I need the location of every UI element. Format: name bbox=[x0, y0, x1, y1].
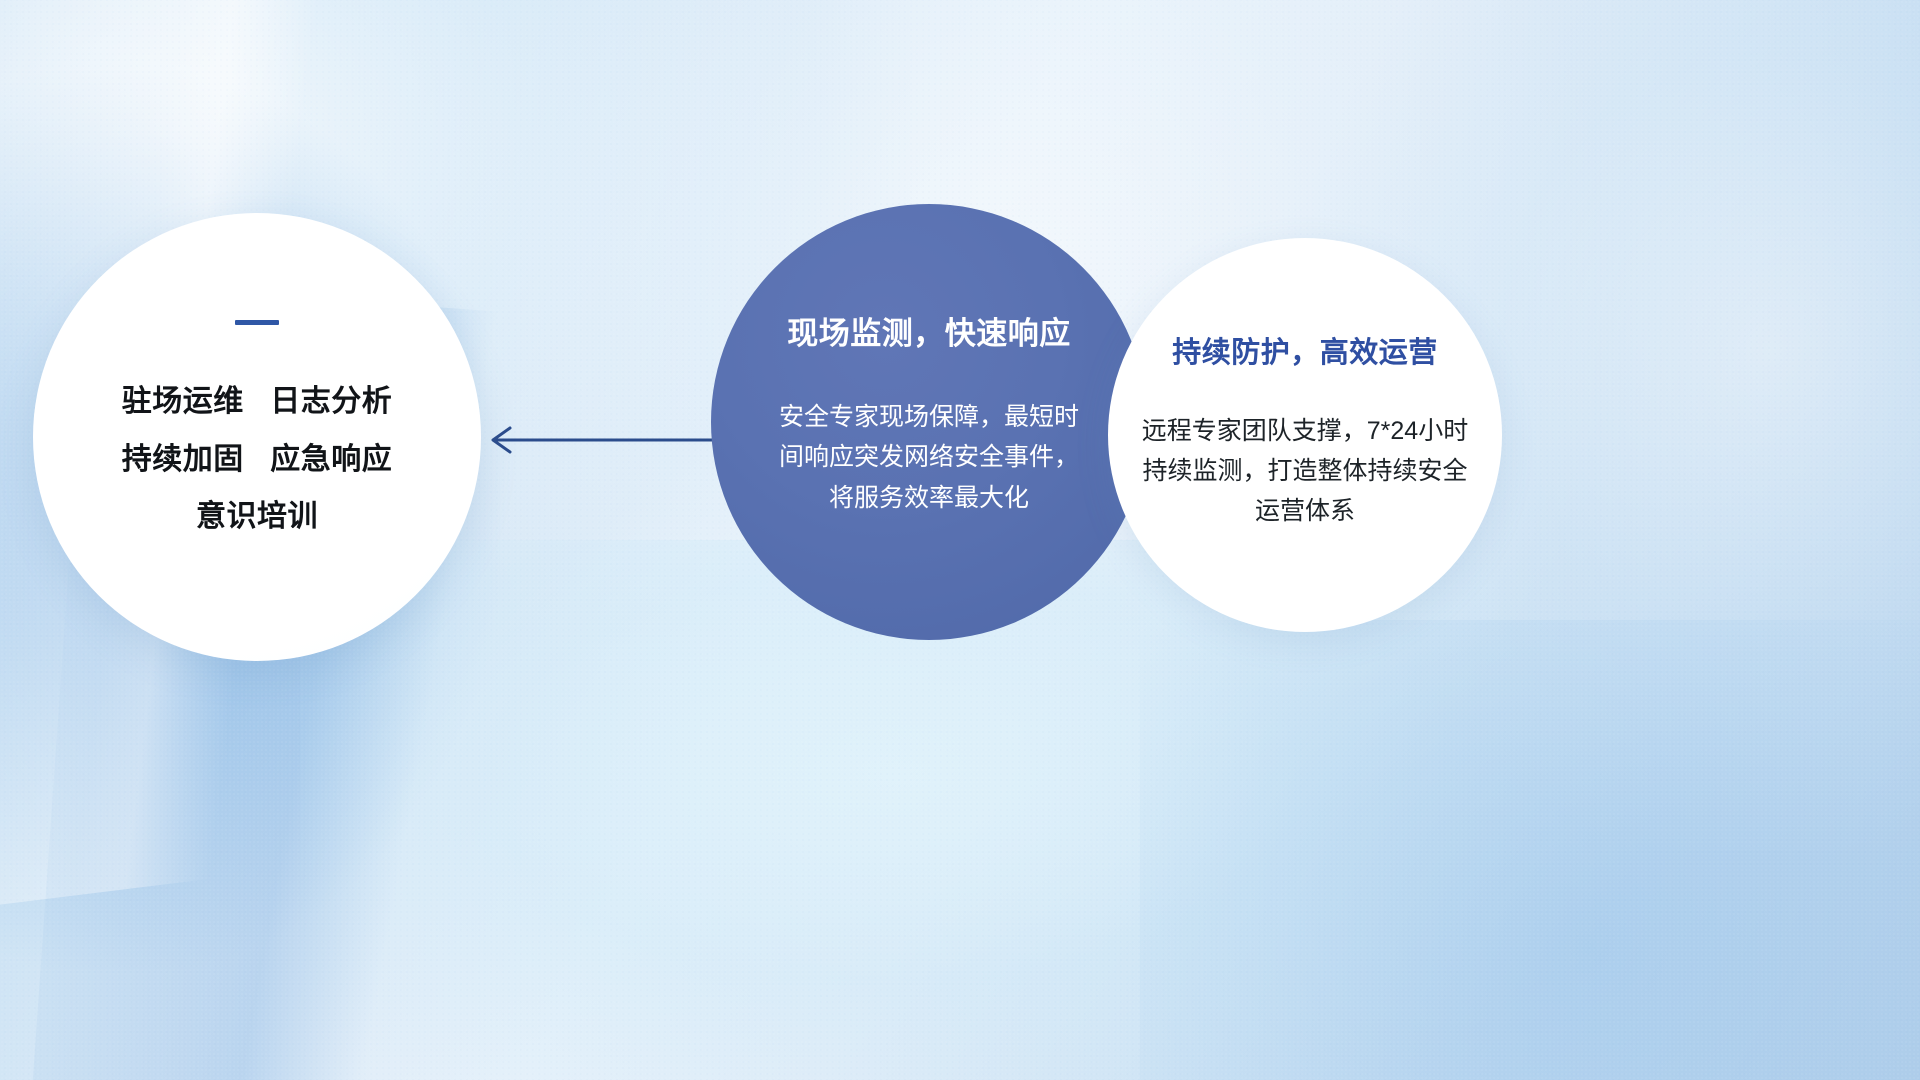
card-continuous-protection: 持续防护，高效运营 远程专家团队支撑，7*24小时持续监测，打造整体持续安全运营… bbox=[1108, 238, 1502, 632]
capability-keyword-row: 驻场运维 日志分析 bbox=[122, 373, 393, 431]
capability-keyword-row: 意识培训 bbox=[122, 488, 393, 546]
capability-circle: 驻场运维 日志分析 持续加固 应急响应 意识培训 bbox=[33, 213, 481, 661]
slide-canvas: 驻场运维 日志分析 持续加固 应急响应 意识培训 现场监测，快速响应 安全专家现… bbox=[0, 0, 1920, 1080]
horizontal-dash-icon bbox=[235, 320, 279, 325]
card-title: 持续防护，高效运营 bbox=[1172, 329, 1438, 371]
card-title: 现场监测，快速响应 bbox=[787, 308, 1071, 353]
capability-keyword-list: 驻场运维 日志分析 持续加固 应急响应 意识培训 bbox=[122, 373, 393, 546]
card-on-site-monitoring: 现场监测，快速响应 安全专家现场保障，最短时间响应突发网络安全事件，将服务效率最… bbox=[711, 204, 1147, 640]
card-body: 安全专家现场保障，最短时间响应突发网络安全事件，将服务效率最大化 bbox=[779, 397, 1079, 519]
capability-keyword-row: 持续加固 应急响应 bbox=[122, 431, 393, 489]
card-body: 远程专家团队支撑，7*24小时持续监测，打造整体持续安全运营体系 bbox=[1134, 411, 1476, 531]
left-arrow-icon bbox=[480, 415, 720, 465]
